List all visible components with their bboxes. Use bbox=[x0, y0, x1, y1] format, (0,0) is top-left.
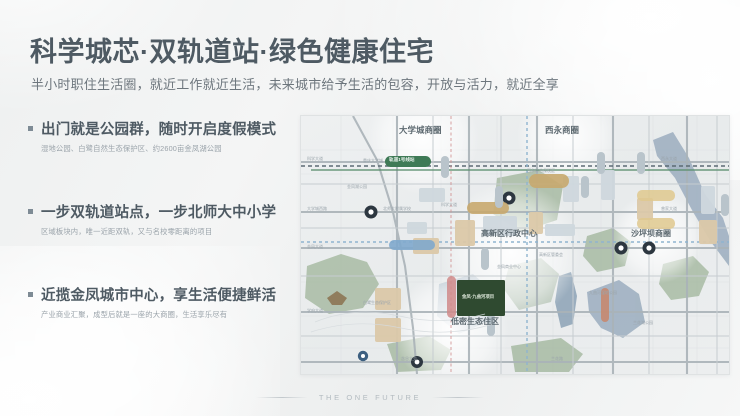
feature-list: 出门就是公园群，随时开启度假模式 湿地公园、白鹭自然生态保护区、约2600亩金凤… bbox=[28, 118, 290, 320]
page-subtitle: 半小时职住生活圈，就近工作就近生活，未来城市给予生活的包容，开放与活力，就近全享 bbox=[31, 74, 559, 93]
metro-station-badge-secondary bbox=[389, 240, 435, 250]
bullet-subtext: 区域板块内，唯一近距双轨，又与名校零距离的项目 bbox=[41, 227, 290, 237]
footer: THE ONE FUTURE bbox=[0, 393, 740, 402]
footer-divider-left bbox=[256, 397, 308, 398]
bullet-square-icon bbox=[28, 209, 33, 214]
map-poi-label: 兰花湖公园 bbox=[633, 320, 653, 326]
bullet-subtext: 产业商业汇聚，成型后就是一座的大商圈，生活享乐尽有 bbox=[41, 310, 290, 320]
list-item: 近揽金凤城市中心，享生活便捷鲜活 产业商业汇聚，成型后就是一座的大商圈，生活享乐… bbox=[28, 284, 290, 320]
page-title: 科学城芯·双轨道站·绿色健康住宅 bbox=[30, 30, 434, 69]
slide-root: 科学城芯·双轨道站·绿色健康住宅 半小时职住生活圈，就近工作就近生活，未来城市给… bbox=[0, 0, 740, 416]
map-poi-label: 白鹭生态保护区 bbox=[363, 300, 391, 306]
footer-divider-right bbox=[432, 397, 484, 398]
bullet-subtext: 湿地公园、白鹭自然生态保护区、约2600亩金凤湖公园 bbox=[41, 144, 290, 154]
map-project-label: 金凤·九曲河项目 bbox=[462, 294, 494, 300]
map-poi-label: 北师大附属学校 bbox=[383, 206, 411, 212]
map-road-label: 含谷立交 bbox=[401, 356, 417, 362]
map-poi-label: 科学大道 bbox=[441, 202, 457, 208]
location-map-panel: 大学城商圈 西永商圈 沙坪坝商圈 高新区行政中心 低密生态住区 轨道1号线站 金… bbox=[300, 115, 730, 375]
map-label-district: 西永商圈 bbox=[545, 124, 579, 136]
map-road-label: 学府大道 bbox=[307, 308, 323, 314]
list-item: 一步双轨道站点，一步北师大中小学 区域板块内，唯一近距双轨，又与名校零距离的项目 bbox=[28, 201, 290, 237]
map-label-district: 低密生态住区 bbox=[451, 316, 499, 327]
map-poi-label: 西永综合保税区 bbox=[527, 168, 555, 174]
footer-brand-text: THE ONE FUTURE bbox=[319, 393, 421, 402]
map-road-label: 兰花路 bbox=[551, 356, 563, 362]
map-label-district: 沙坪坝商圈 bbox=[631, 228, 671, 239]
map-poi-label: 金凤湖公园 bbox=[347, 184, 367, 190]
bullet-title: 一步双轨道站点，一步北师大中小学 bbox=[41, 201, 276, 222]
map-road-label: 金凤大道 bbox=[307, 244, 323, 250]
map-poi-label: 高新区管委会 bbox=[539, 252, 563, 258]
map-road-label: 大学城西路 bbox=[307, 206, 327, 212]
bullet-square-icon bbox=[28, 126, 33, 131]
list-item: 出门就是公园群，随时开启度假模式 湿地公园、白鹭自然生态保护区、约2600亩金凤… bbox=[28, 118, 290, 154]
map-station-label: 轨道1号线站 bbox=[389, 157, 415, 163]
map-label-district: 大学城商圈 bbox=[399, 124, 442, 136]
bullet-heading-row: 一步双轨道站点，一步北师大中小学 bbox=[28, 201, 290, 222]
bullet-heading-row: 近揽金凤城市中心，享生活便捷鲜活 bbox=[28, 284, 290, 305]
bullet-square-icon bbox=[28, 292, 33, 297]
map-poi-label: 金凤商业中心 bbox=[497, 264, 521, 270]
map-poi-label: 重庆大学城 bbox=[363, 158, 383, 164]
bullet-heading-row: 出门就是公园群，随时开启度假模式 bbox=[28, 118, 290, 139]
map-label-district: 高新区行政中心 bbox=[481, 228, 537, 239]
bullet-title: 出门就是公园群，随时开启度假模式 bbox=[41, 118, 276, 139]
map-road-label: 科学大道 bbox=[307, 156, 323, 162]
map-road-label: 西永大道 bbox=[661, 156, 677, 162]
map-illustration bbox=[301, 116, 729, 374]
map-road-label: 曾家大道 bbox=[661, 206, 677, 212]
map-poi-label: 九曲河湿地公园 bbox=[589, 290, 617, 296]
bullet-title: 近揽金凤城市中心，享生活便捷鲜活 bbox=[41, 284, 276, 305]
